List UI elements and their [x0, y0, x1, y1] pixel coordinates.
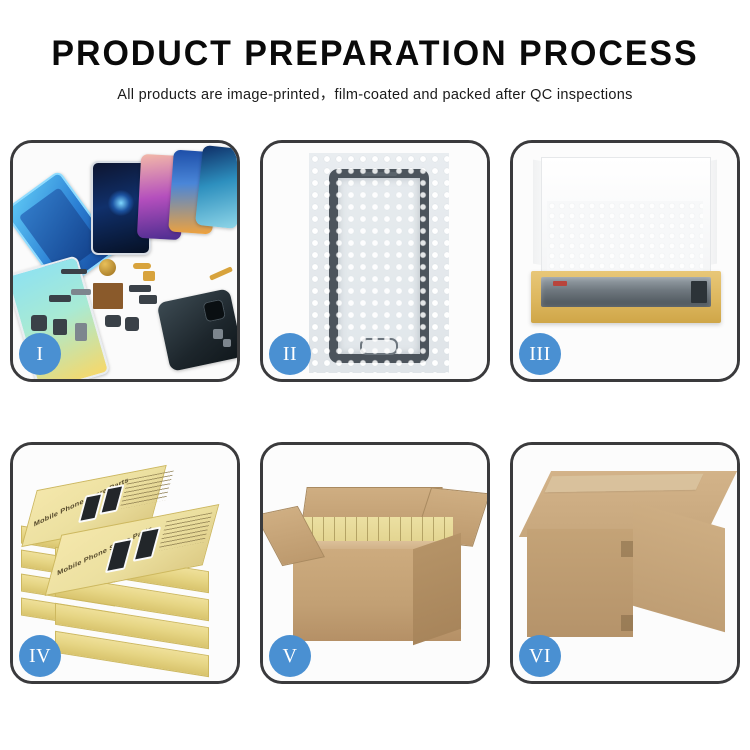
step-1-illustration: I: [13, 143, 237, 379]
carton-hand-hole-bottom: [621, 615, 633, 631]
step-badge-1: I: [19, 333, 61, 375]
part-antenna-wire: [209, 266, 233, 280]
part-connector: [139, 295, 157, 304]
step-panel-2: II: [260, 140, 490, 382]
step-panel-3: III: [510, 140, 740, 382]
part-bracket: [71, 289, 91, 295]
step-4-illustration: Mobile Phone Spare Parts Mobile Phone Sp…: [13, 445, 237, 681]
steps-grid: I II: [10, 140, 740, 684]
part-ic-chip: [93, 283, 123, 309]
carton-body-side: [413, 533, 461, 646]
step-5-illustration: V: [263, 445, 487, 681]
page-title: PRODUCT PREPARATION PROCESS: [11, 34, 739, 74]
header: PRODUCT PREPARATION PROCESS All products…: [0, 0, 750, 104]
step-2-illustration: II: [263, 143, 487, 379]
part-coin-connector: [99, 259, 116, 276]
foam-padding: [547, 201, 703, 275]
step-badge-4: IV: [19, 635, 61, 677]
wrapped-phone-screen: [329, 169, 429, 363]
home-button: [360, 338, 398, 355]
product-label-mark: [553, 281, 567, 286]
step-panel-4: Mobile Phone Spare Parts Mobile Phone Sp…: [10, 442, 240, 684]
part-screw-pack: [213, 329, 223, 339]
earpiece-slot: [361, 172, 397, 176]
kraft-box-tray: [531, 271, 721, 323]
step-6-illustration: VI: [513, 445, 737, 681]
packing-tape: [545, 474, 704, 493]
box-art-phone: [105, 538, 134, 574]
part-ribbon: [129, 285, 151, 292]
phone-screen-teal: [195, 145, 240, 229]
part-gold-tab: [143, 271, 155, 281]
step-panel-1: I: [10, 140, 240, 382]
step-panel-6: VI: [510, 442, 740, 684]
box-art-phone: [78, 492, 103, 523]
part-screw: [223, 339, 231, 347]
bubble-wrap-sheet: [309, 153, 449, 373]
sealed-carton-front: [527, 529, 633, 637]
part-button-set: [31, 315, 47, 331]
part-battery: [75, 323, 87, 341]
carton-hand-hole-top: [621, 541, 633, 557]
box-spec-lines: [158, 512, 212, 551]
step-badge-6: VI: [519, 635, 561, 677]
step-badge-5: V: [269, 635, 311, 677]
part-vibrator: [53, 319, 67, 335]
phone-back-housing: [157, 288, 240, 372]
packed-screen-in-box: [541, 277, 711, 307]
part-flex-strip: [61, 269, 87, 274]
step-badge-2: II: [269, 333, 311, 375]
step-panel-5: V: [260, 442, 490, 684]
product-preparation-infographic: PRODUCT PREPARATION PROCESS All products…: [0, 0, 750, 750]
part-speaker: [125, 317, 139, 331]
part-gold-flex: [133, 263, 151, 269]
step-3-illustration: III: [513, 143, 737, 379]
part-cable: [49, 295, 71, 302]
step-badge-3: III: [519, 333, 561, 375]
part-camera-module: [105, 315, 121, 327]
page-subtitle: All products are image-printed，film-coat…: [0, 83, 750, 104]
